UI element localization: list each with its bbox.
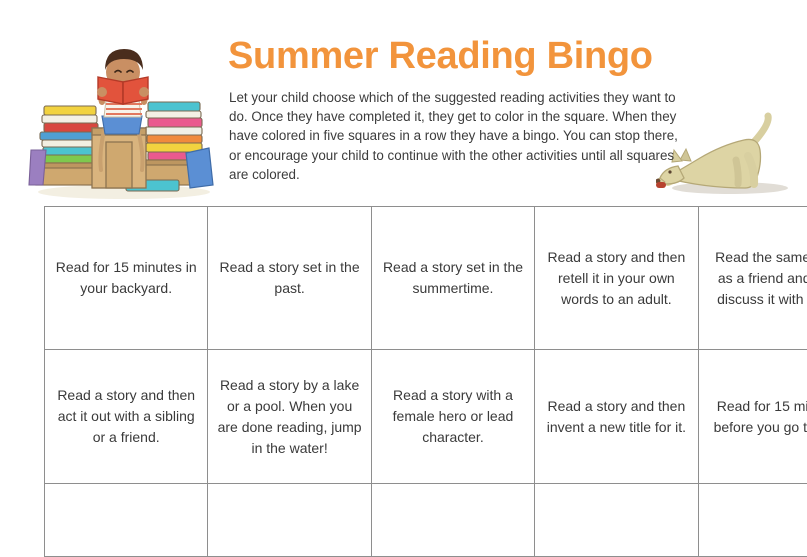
bingo-cell[interactable]: Read a story with a female hero or lead … <box>371 350 534 484</box>
bingo-row: Read a story and then act it out with a … <box>45 350 807 484</box>
bingo-row: Read for 15 minutes in your backyard. Re… <box>45 207 807 350</box>
bingo-cell[interactable] <box>371 484 534 557</box>
page-header: Summer Reading Bingo Let your child choo… <box>0 0 807 200</box>
page-title: Summer Reading Bingo <box>228 34 683 78</box>
bingo-cell[interactable] <box>698 484 807 557</box>
bingo-cell[interactable]: Read a story and then invent a new title… <box>535 350 698 484</box>
bingo-cell[interactable]: Read the same story as a friend and then… <box>698 207 807 350</box>
bingo-cell[interactable]: Read a story and then act it out with a … <box>45 350 208 484</box>
bingo-cell[interactable] <box>535 484 698 557</box>
intro-paragraph: Let your child choose which of the sugge… <box>229 88 683 184</box>
child-reading-on-book-stacks-illustration <box>26 22 222 200</box>
bingo-cell[interactable] <box>208 484 371 557</box>
bingo-row <box>45 484 807 557</box>
bingo-cell[interactable]: Read a story set in the summertime. <box>371 207 534 350</box>
bingo-cell[interactable]: Read a story set in the past. <box>208 207 371 350</box>
bingo-cell[interactable]: Read for 15 minutes in your backyard. <box>45 207 208 350</box>
bingo-cell[interactable]: Read a story by a lake or a pool. When y… <box>208 350 371 484</box>
bingo-grid: Read for 15 minutes in your backyard. Re… <box>44 206 807 557</box>
bingo-cell[interactable]: Read for 15 minutes before you go to bed… <box>698 350 807 484</box>
bingo-cell[interactable]: Read a story and then retell it in your … <box>535 207 698 350</box>
bingo-cell[interactable] <box>45 484 208 557</box>
header-text-block: Summer Reading Bingo Let your child choo… <box>228 34 683 184</box>
